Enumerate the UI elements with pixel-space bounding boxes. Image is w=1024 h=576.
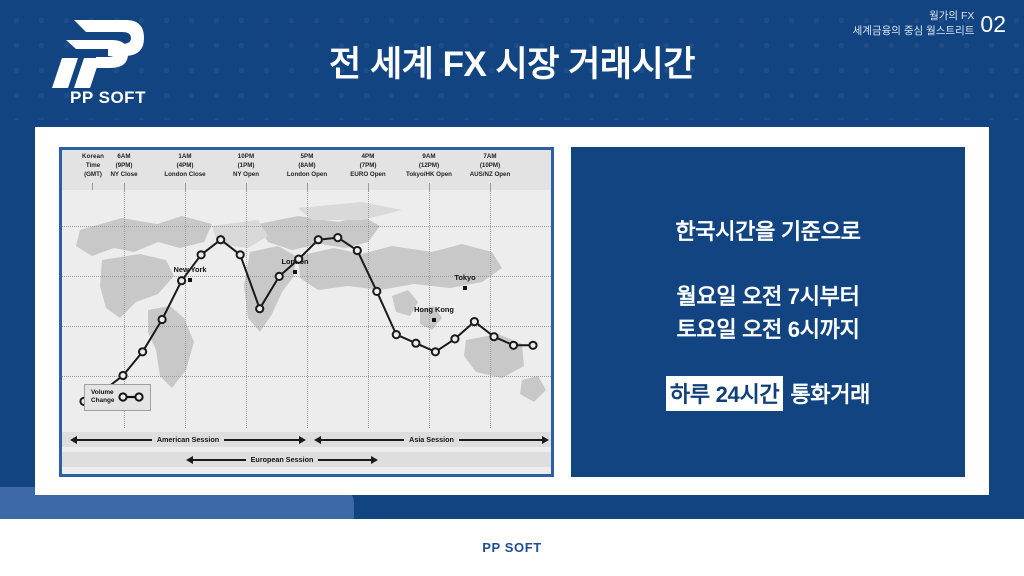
- volume-data-point: [178, 277, 185, 284]
- volume-data-point: [490, 333, 497, 340]
- summary-line-2b: 토요일 오전 6시까지: [676, 313, 859, 346]
- volume-polyline: [84, 238, 533, 402]
- timeline-tick: [92, 183, 93, 190]
- world-map-area: New York London Tokyo Hong Kong: [62, 190, 551, 428]
- slide: PP SOFT 전 세계 FX 시장 거래시간 월가의 FX 세계금융의 중심 …: [0, 0, 1024, 576]
- legend-marker-icon: [118, 392, 144, 402]
- summary-line-3: 하루 24시간 통화거래: [666, 376, 870, 411]
- timeline-tick: [490, 183, 491, 190]
- page-number: 02: [980, 13, 1006, 36]
- header-meta-line-2: 세계금융의 중심 월스트리트: [853, 24, 975, 39]
- summary-highlight: 하루 24시간: [666, 376, 783, 411]
- volume-data-point: [354, 247, 361, 254]
- footer-brand: PP SOFT: [482, 540, 542, 555]
- volume-data-point: [432, 348, 439, 355]
- timeline-local-time: (4PM): [150, 162, 220, 171]
- footer: PP SOFT: [0, 519, 1024, 576]
- legend-label-line2: Change: [91, 397, 114, 405]
- timeline-column: 6AM(9PM)NY Close: [95, 153, 153, 180]
- session-label: European Session: [246, 455, 319, 464]
- timeline-tick: [368, 183, 369, 190]
- timeline-column: 9AM(12PM)Tokyo/HK Open: [393, 153, 465, 180]
- timeline-market-label: London Close: [150, 171, 220, 180]
- session-asia: Asia Session: [312, 432, 551, 447]
- legend-label-line1: Volume: [91, 389, 114, 397]
- chart-inner: KoreanTime(GMT)6AM(9PM)NY Close1AM(4PM)L…: [62, 150, 551, 474]
- timeline-korean-time: 6AM: [95, 153, 153, 162]
- volume-data-point: [334, 234, 341, 241]
- summary-line-1: 한국시간을 기준으로: [675, 214, 860, 246]
- volume-data-point: [529, 342, 536, 349]
- timeline-local-time: (8AM): [276, 162, 338, 171]
- session-american: American Session: [68, 432, 308, 447]
- header-meta: 월가의 FX 세계금융의 중심 월스트리트 02: [853, 9, 1006, 39]
- volume-data-point: [139, 348, 146, 355]
- timeline-column: 1AM(4PM)London Close: [150, 153, 220, 180]
- volume-data-point: [393, 331, 400, 338]
- volume-data-point: [451, 335, 458, 342]
- summary-line-2a: 월요일 오전 7시부터: [676, 280, 859, 313]
- volume-data-point: [256, 305, 263, 312]
- timeline-local-time: (12PM): [393, 162, 465, 171]
- timeline-korean-time: 4PM: [337, 153, 399, 162]
- session-bars: American Session Asia Session European S…: [62, 428, 551, 474]
- header-meta-line-1: 월가의 FX: [853, 9, 975, 24]
- volume-data-point: [373, 288, 380, 295]
- chart-legend: Volume Change: [84, 384, 151, 411]
- timeline-korean-time: 1AM: [150, 153, 220, 162]
- session-european: European Session: [184, 452, 380, 467]
- timeline-column: 10PM(1PM)NY Open: [217, 153, 275, 180]
- timeline-column: 5PM(8AM)London Open: [276, 153, 338, 180]
- volume-data-point: [315, 236, 322, 243]
- fx-market-hours-chart[interactable]: KoreanTime(GMT)6AM(9PM)NY Close1AM(4PM)L…: [59, 147, 554, 477]
- volume-data-point: [119, 372, 126, 379]
- timeline-column: 4PM(7PM)EURO Open: [337, 153, 399, 180]
- timeline-korean-time: 9AM: [393, 153, 465, 162]
- timeline-market-label: Tokyo/HK Open: [393, 171, 465, 180]
- timeline-market-label: NY Close: [95, 171, 153, 180]
- volume-data-point: [217, 236, 224, 243]
- timeline-market-label: NY Open: [217, 171, 275, 180]
- timeline-tick: [246, 183, 247, 190]
- timeline-local-time: (9PM): [95, 162, 153, 171]
- timeline-local-time: (1PM): [217, 162, 275, 171]
- timeline-market-label: EURO Open: [337, 171, 399, 180]
- volume-data-point: [159, 316, 166, 323]
- volume-data-point: [510, 342, 517, 349]
- logo-wordmark: PP SOFT: [52, 88, 164, 108]
- timeline-korean-time: 7AM: [460, 153, 520, 162]
- timeline-header: KoreanTime(GMT)6AM(9PM)NY Close1AM(4PM)L…: [62, 150, 551, 191]
- session-label: Asia Session: [404, 435, 459, 444]
- volume-data-point: [276, 273, 283, 280]
- summary-line-3-tail: 통화거래: [790, 377, 870, 409]
- volume-data-point: [198, 251, 205, 258]
- timeline-korean-time: 10PM: [217, 153, 275, 162]
- summary-line-2: 월요일 오전 7시부터 토요일 오전 6시까지: [676, 280, 859, 346]
- timeline-tick: [429, 183, 430, 190]
- summary-panel: 한국시간을 기준으로 월요일 오전 7시부터 토요일 오전 6시까지 하루 24…: [571, 147, 965, 477]
- timeline-korean-time: 5PM: [276, 153, 338, 162]
- legend-label: Volume Change: [91, 389, 114, 406]
- volume-data-point: [412, 340, 419, 347]
- volume-data-point: [295, 256, 302, 263]
- timeline-local-time: (10PM): [460, 162, 520, 171]
- header-meta-lines: 월가의 FX 세계금융의 중심 월스트리트: [853, 9, 975, 39]
- volume-data-point: [237, 251, 244, 258]
- session-label: American Session: [152, 435, 224, 444]
- timeline-tick: [185, 183, 186, 190]
- volume-data-point: [471, 318, 478, 325]
- page-title: 전 세계 FX 시장 거래시간: [0, 36, 1024, 87]
- content-card: KoreanTime(GMT)6AM(9PM)NY Close1AM(4PM)L…: [35, 127, 989, 495]
- timeline-local-time: (7PM): [337, 162, 399, 171]
- timeline-tick: [307, 183, 308, 190]
- timeline-market-label: London Open: [276, 171, 338, 180]
- timeline-tick: [124, 183, 125, 190]
- timeline-market-label: AUS/NZ Open: [460, 171, 520, 180]
- timeline-column: 7AM(10PM)AUS/NZ Open: [460, 153, 520, 180]
